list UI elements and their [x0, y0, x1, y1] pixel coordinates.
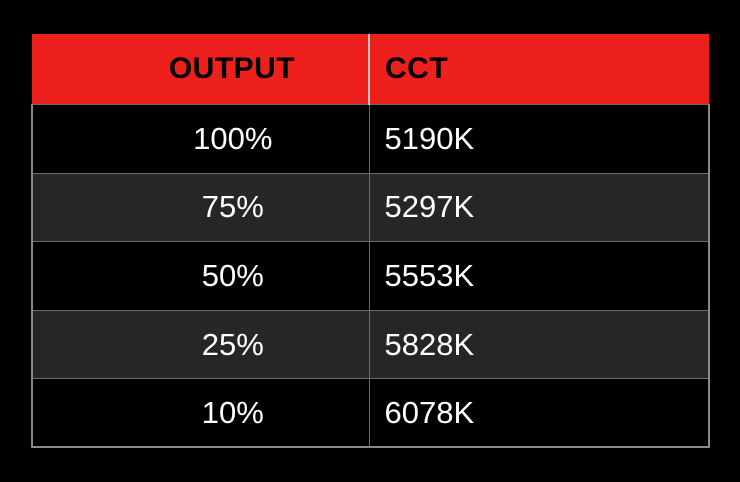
column-header-output: OUTPUT: [32, 34, 369, 105]
cell-cct: 5190K: [369, 105, 709, 174]
table-row: 75% 5297K: [32, 173, 709, 242]
table-row: 10% 6078K: [32, 379, 709, 448]
table-row: 25% 5828K: [32, 310, 709, 379]
cell-cct: 6078K: [369, 379, 709, 448]
cell-output: 75%: [32, 173, 369, 242]
cell-cct: 5828K: [369, 310, 709, 379]
table-body: 100% 5190K 75% 5297K 50% 5553K 25% 5828K…: [32, 105, 709, 448]
cell-cct: 5553K: [369, 242, 709, 311]
output-cct-table: OUTPUT CCT 100% 5190K 75% 5297K 50% 5553…: [31, 34, 710, 448]
cell-cct: 5297K: [369, 173, 709, 242]
cell-output: 25%: [32, 310, 369, 379]
cell-output: 50%: [32, 242, 369, 311]
page-root: OUTPUT CCT 100% 5190K 75% 5297K 50% 5553…: [0, 0, 740, 482]
table-header-row: OUTPUT CCT: [32, 34, 709, 105]
cell-output: 10%: [32, 379, 369, 448]
column-header-cct: CCT: [369, 34, 709, 105]
table-header: OUTPUT CCT: [32, 34, 709, 105]
table-row: 100% 5190K: [32, 105, 709, 174]
cell-output: 100%: [32, 105, 369, 174]
table-row: 50% 5553K: [32, 242, 709, 311]
